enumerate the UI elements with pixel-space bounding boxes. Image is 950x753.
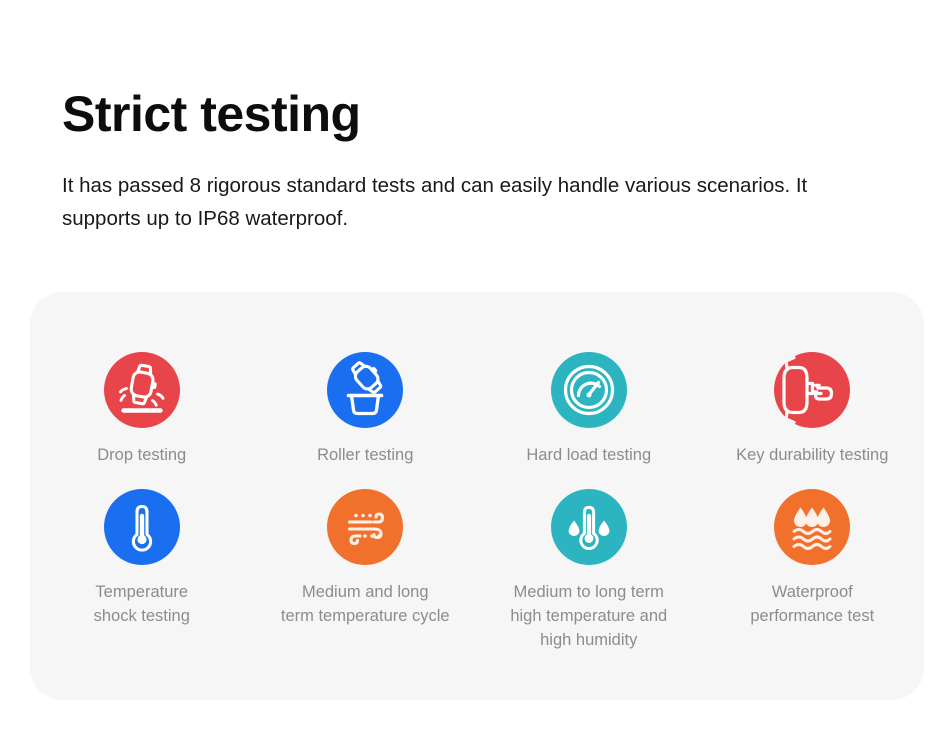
- test-item-label: Temperature shock testing: [94, 581, 190, 629]
- test-item-label: Waterproof performance test: [750, 581, 874, 629]
- test-item-label: Medium to long term high temperature and…: [510, 581, 667, 653]
- wind-airflow-icon: [327, 489, 403, 565]
- test-item-temperature-shock-testing[interactable]: Temperature shock testing: [30, 489, 254, 653]
- roller-testing-icon-circle: [327, 352, 403, 428]
- test-item-waterproof-performance[interactable]: Waterproof performance test: [701, 489, 925, 653]
- test-item-label: Drop testing: [97, 444, 186, 468]
- drop-testing-icon-circle: [104, 352, 180, 428]
- water-droplets-waves-icon: [774, 489, 850, 565]
- thermometer-humidity-droplets-icon: [551, 489, 627, 565]
- hard-load-testing-icon-circle: [551, 352, 627, 428]
- test-items-card: Drop testing: [30, 292, 924, 700]
- test-row-top: Drop testing: [30, 292, 924, 468]
- test-item-hard-load-testing[interactable]: Hard load testing: [477, 352, 701, 468]
- key-durability-testing-icon-circle: [774, 352, 850, 428]
- test-item-temperature-cycle[interactable]: Medium and long term temperature cycle: [254, 489, 478, 653]
- waterproof-icon-circle: [774, 489, 850, 565]
- strict-testing-page: Strict testing It has passed 8 rigorous …: [0, 0, 950, 753]
- test-item-key-durability-testing[interactable]: Key durability testing: [701, 352, 925, 468]
- test-item-label: Roller testing: [317, 444, 413, 468]
- temperature-shock-icon-circle: [104, 489, 180, 565]
- thermometer-icon: [104, 489, 180, 565]
- heading-block: Strict testing It has passed 8 rigorous …: [62, 88, 892, 236]
- page-title: Strict testing: [62, 88, 892, 141]
- watch-drop-splash-icon: [104, 352, 180, 428]
- temperature-cycle-icon-circle: [327, 489, 403, 565]
- watch-button-press-hand-icon: [774, 352, 850, 428]
- test-item-label: Hard load testing: [526, 444, 651, 468]
- test-row-bottom: Temperature shock testing: [30, 468, 924, 653]
- test-item-drop-testing[interactable]: Drop testing: [30, 352, 254, 468]
- watch-tumbler-drum-icon: [327, 352, 403, 428]
- test-item-roller-testing[interactable]: Roller testing: [254, 352, 478, 468]
- test-item-high-temp-humidity[interactable]: Medium to long term high temperature and…: [477, 489, 701, 653]
- test-item-label: Key durability testing: [736, 444, 888, 468]
- gauge-speedometer-icon: [551, 352, 627, 428]
- page-subtitle: It has passed 8 rigorous standard tests …: [62, 169, 822, 237]
- high-temp-humidity-icon-circle: [551, 489, 627, 565]
- test-item-label: Medium and long term temperature cycle: [281, 581, 450, 629]
